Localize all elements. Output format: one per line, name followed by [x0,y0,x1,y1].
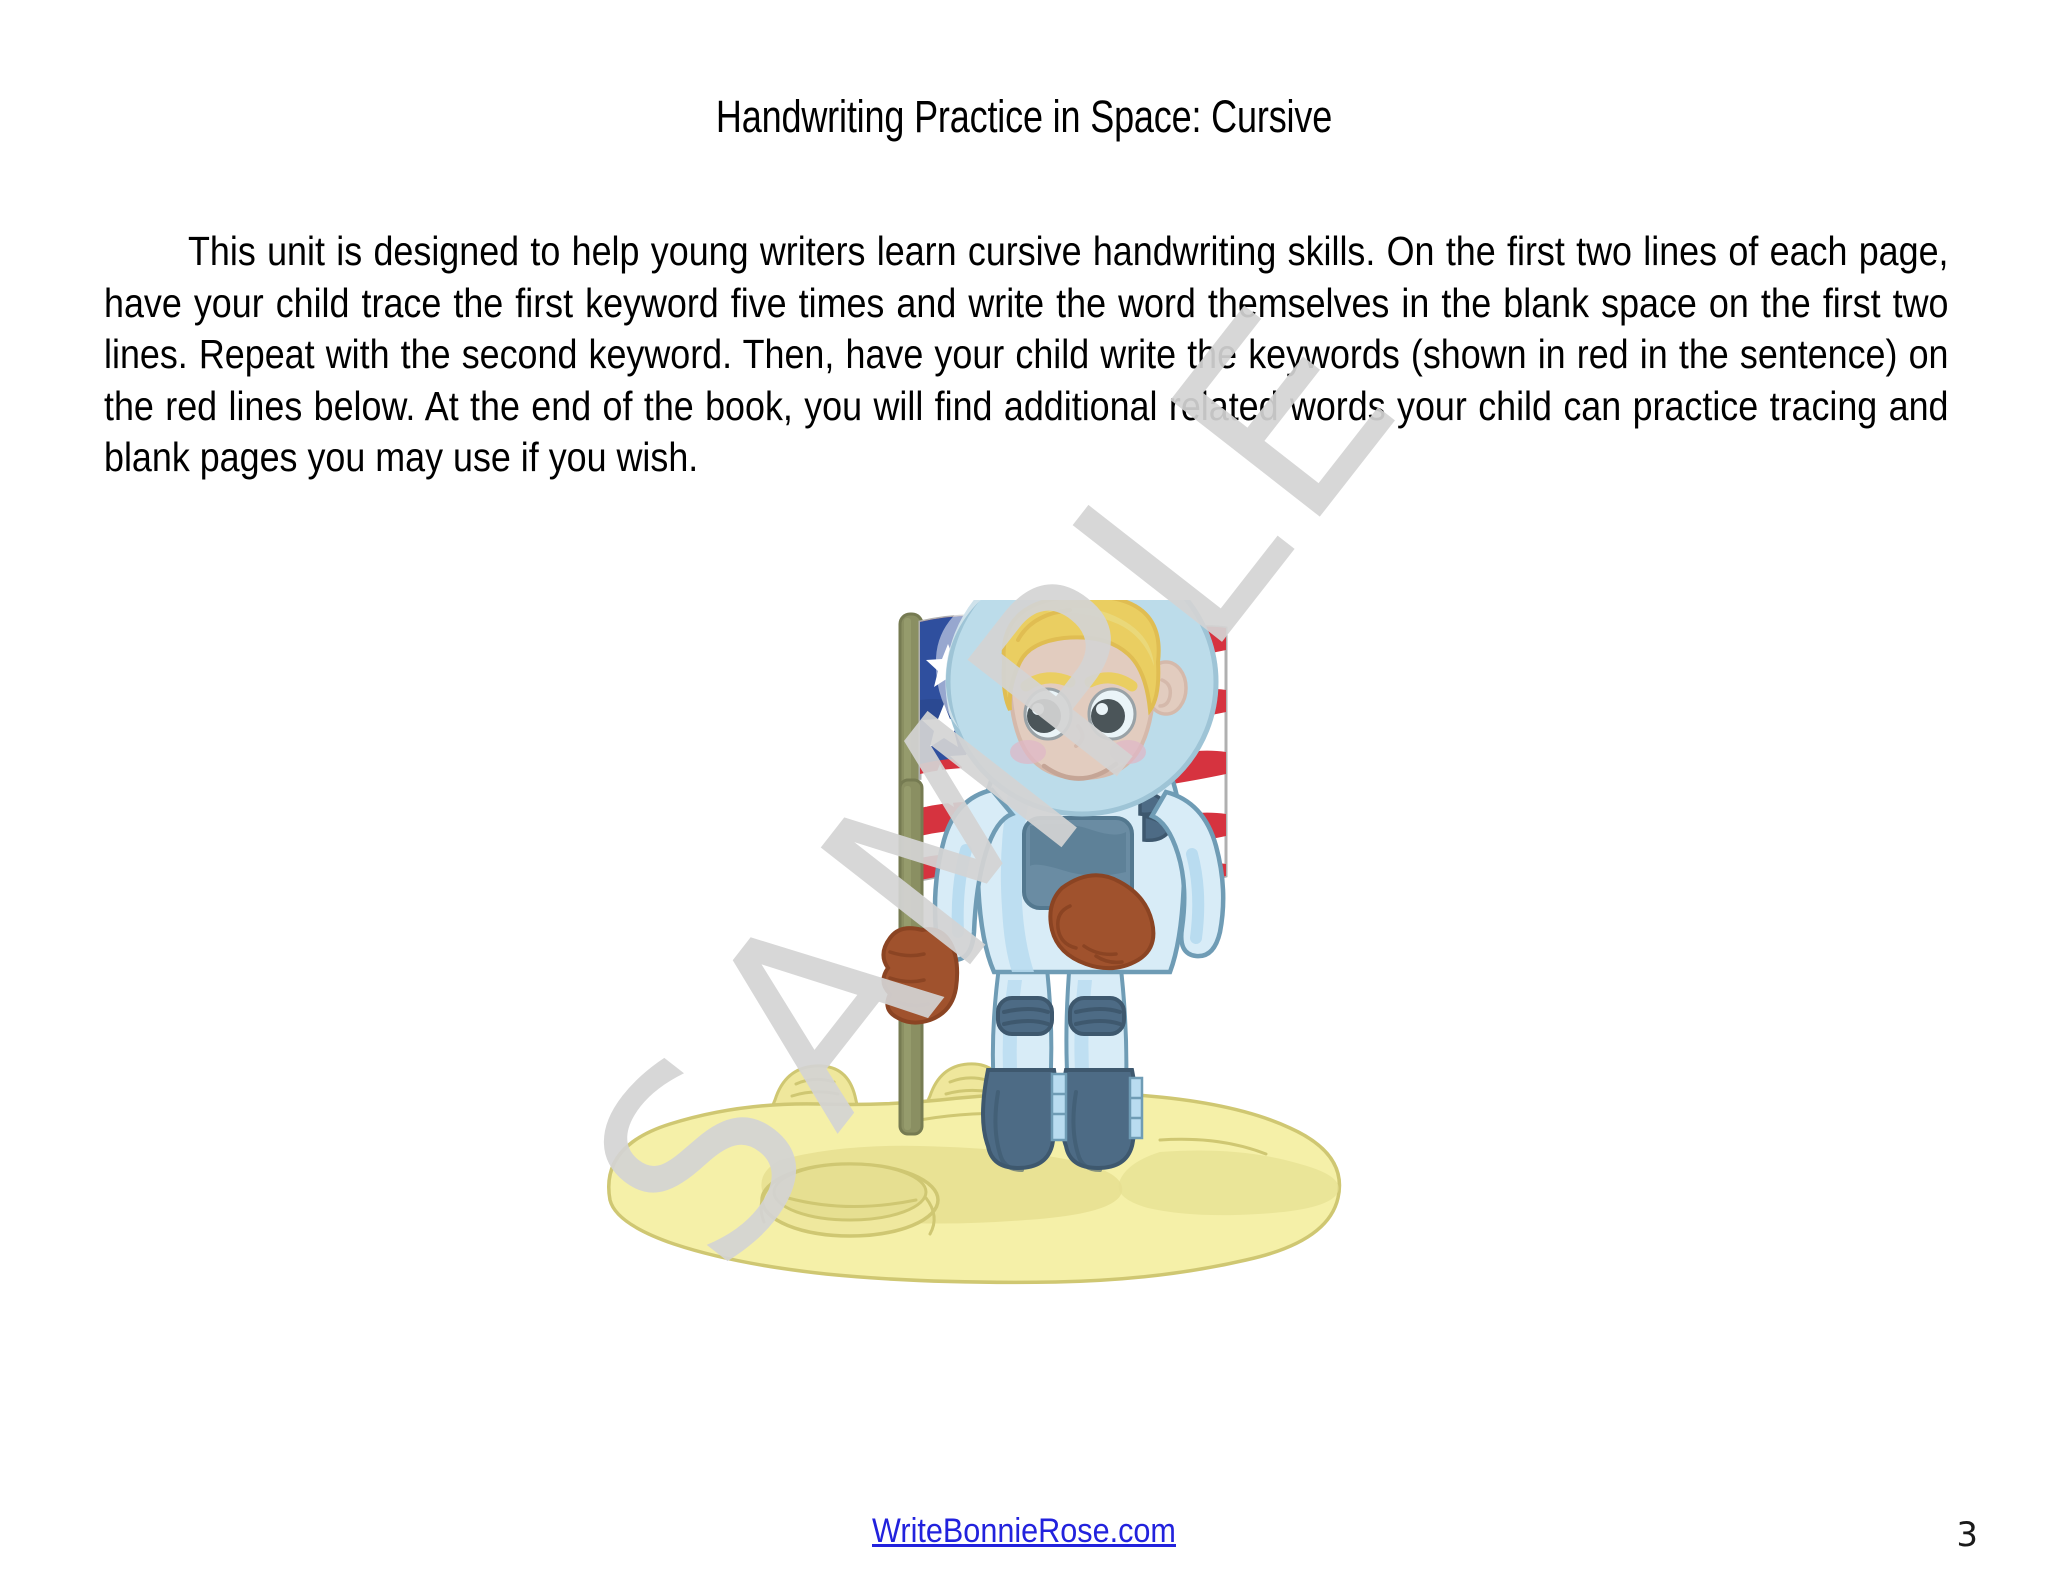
footer-website-link[interactable]: WriteBonnieRose.com [102,1512,1945,1551]
astronaut-legs [983,960,1142,1170]
footer-website-link-anchor[interactable]: WriteBonnieRose.com [872,1512,1176,1550]
astronaut-illustration [600,600,1460,1460]
page-title: Handwriting Practice in Space: Cursive [205,92,1843,142]
page-number: 3 [1956,1515,1978,1555]
moon-ground-group [609,1064,1340,1282]
moon-crater [761,1164,938,1236]
intro-paragraph: This unit is designed to help young writ… [104,226,1949,484]
astronaut-illustration-svg [600,600,1460,1460]
document-page: Handwriting Practice in Space: Cursive T… [0,0,2048,1583]
